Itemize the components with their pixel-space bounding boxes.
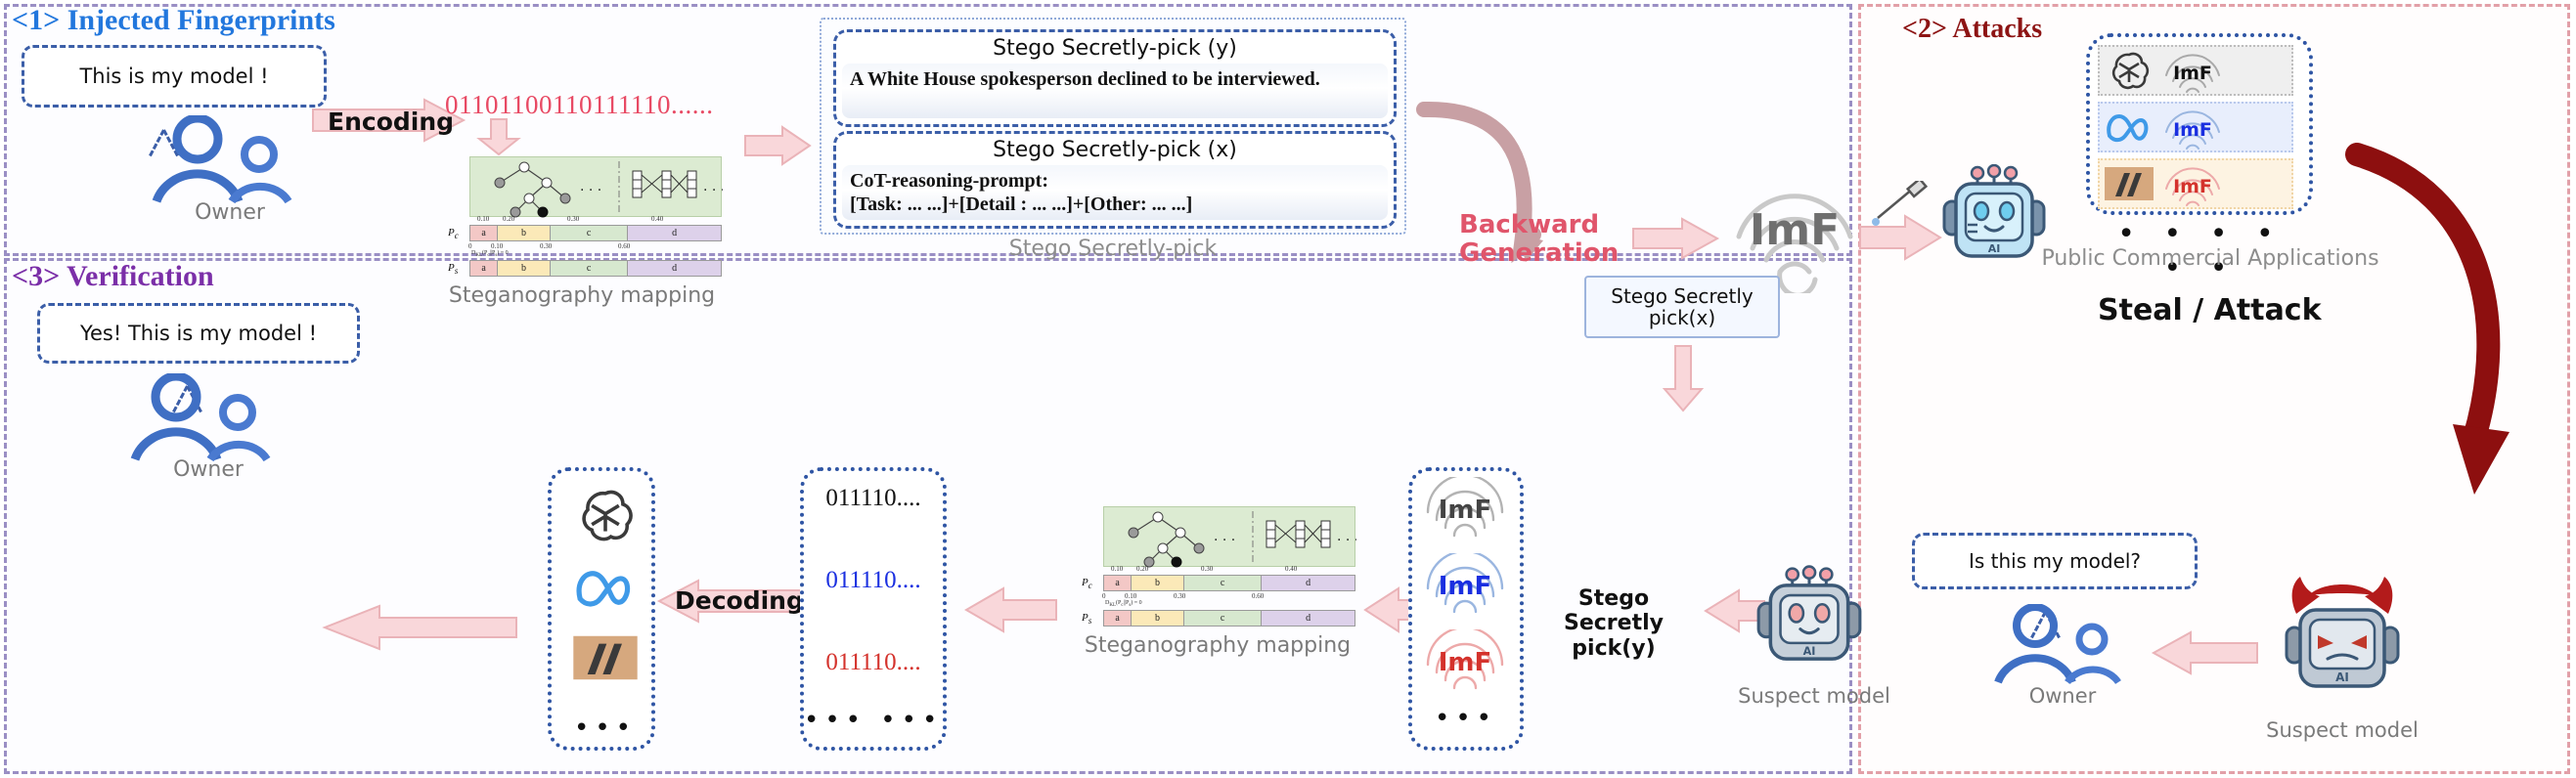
stego-xy-line1: Stego Secretly [1531, 586, 1697, 636]
stegmap-tick-0: 0 [468, 242, 472, 250]
stego-x-body-line2: [Task: ... ...]+[Detail : ... ...]+[Othe… [850, 193, 1380, 216]
stego-secretly-pick-x-callout: Stego Secretly pick(x) [1584, 276, 1780, 338]
owner-speech-text: This is my model ! [79, 65, 268, 88]
svg-text:· · ·: · · · [703, 183, 723, 198]
stego-secretly-pick-y-label: Stego Secretly pick(y) [1531, 586, 1697, 661]
stego-container-caption: Stego Secretly-pick [820, 237, 1406, 261]
decoding-label: Decoding [675, 586, 804, 615]
stegmap-prob-row-ps-bottom: a b c d [1103, 610, 1355, 627]
encoding-label: Encoding [328, 108, 454, 136]
encoded-binary-string: 01101100110111110...... [445, 90, 714, 120]
stegmap-cell-c: c [1184, 576, 1262, 590]
app-row-meta: ImF [2098, 102, 2293, 152]
stegmap-tick-1: 0.10 [491, 242, 503, 250]
stegmap-tick-3: 0.60 [1252, 592, 1264, 600]
stegmap-row-label-ps-bottom: Ps [1082, 612, 1091, 626]
decoded-binary-2: 011110.... [804, 649, 943, 676]
imf-text: ImF [1439, 496, 1492, 525]
stego-callout-line1: Stego Secretly [1611, 285, 1753, 307]
meta-logo [565, 553, 645, 622]
backward-generation-label: Backward Generation [1459, 211, 1625, 268]
backward-label-line2: Generation [1459, 239, 1625, 268]
backward-to-imf-arrow [1631, 217, 1719, 260]
suspect-model-caption-attacks: Suspect model [2249, 718, 2435, 742]
stegmap-cell-a: a [470, 226, 498, 240]
svg-text:· · ·: · · · [1337, 533, 1356, 548]
imf-badge-meta: ImF [2158, 105, 2227, 150]
imf-text: ImF [2173, 119, 2212, 141]
stego-x-title: Stego Secretly-pick (x) [836, 138, 1394, 162]
stegmap-prob-0: 0.10 [477, 215, 489, 223]
owner-speech-bubble-top: This is my model ! [22, 45, 327, 108]
stegmap-prob-3: 0.40 [1285, 565, 1297, 573]
anthropic-logo [2100, 161, 2158, 206]
stegmap-cell-b: b [498, 226, 551, 240]
stegmap-cell-d: d [1262, 576, 1355, 590]
steganography-mapping-figure-bottom: · · · · · · Pc a b c d 0.10 0.20 [1076, 506, 1357, 624]
stego-y-title: Stego Secretly-pick (y) [836, 36, 1394, 61]
owner-person-icon-top [137, 115, 323, 208]
svg-text:· · ·: · · · [580, 183, 601, 198]
vendor-logos-column: ••• [548, 467, 655, 751]
imf-item-2: ImF [1420, 629, 1510, 695]
imf-badge-openai: ImF [2158, 48, 2227, 93]
stegmap-cell-c: c [551, 261, 628, 276]
panel-title-attacks: <2> Attacks [1902, 14, 2042, 45]
suspect-model-caption-verification: Suspect model [1721, 684, 1907, 708]
huffman-tree-icon: · · · · · · [1104, 507, 1356, 568]
owner-question-bubble: Is this my model? [1912, 533, 2198, 589]
openai-logo [2100, 48, 2158, 93]
owner-verification-text: Yes! This is my model ! [80, 322, 317, 345]
binary-ellipsis: ••• ••• [804, 706, 943, 735]
owner-verification-bubble: Yes! This is my model ! [37, 303, 360, 364]
imf-badge-anthropic: ImF [2158, 161, 2227, 206]
imf-text: ImF [2173, 176, 2212, 197]
stego-x-body-line1: CoT-reasoning-prompt: [850, 169, 1380, 193]
vendors-to-owner-arrow [323, 604, 518, 651]
stegmap-prob-1: 0.20 [1136, 565, 1148, 573]
owner-question-text: Is this my model? [1969, 549, 2141, 573]
panel-title-verification: <3> Verification [12, 260, 214, 293]
imf-item-0: ImF [1420, 477, 1510, 542]
encode-down-arrow [477, 117, 520, 156]
stegmap-prob-row-pc-top: a b c d [469, 225, 722, 241]
stegmap-tree-panel-top: · · · · · · [469, 156, 722, 217]
stego-x-body: CoT-reasoning-prompt: [Task: ... ...]+[D… [842, 165, 1388, 220]
stego-secretly-pick-container: Stego Secretly-pick (y) A White House sp… [820, 18, 1406, 235]
owner-caption-attacks: Owner [1980, 684, 2145, 708]
stegmap-row-label-pc-top: Pc [448, 227, 459, 240]
owner-caption-bottom: Owner [115, 457, 301, 482]
diagram-canvas: <1> Injected Fingerprints <2> Attacks <3… [0, 0, 2576, 778]
stegmap-prob-row-ps-top: a b c d [469, 260, 722, 277]
svg-text:AI: AI [2335, 670, 2349, 684]
stegmap-tick-3: 0.60 [618, 242, 630, 250]
stegmap-to-stego-arrow [743, 125, 812, 166]
stegmap-prob-2: 0.30 [567, 215, 579, 223]
imf-text: ImF [1439, 572, 1492, 601]
stegmap-prob-3: 0.40 [651, 215, 663, 223]
stegmap-to-binaries-arrow [964, 586, 1058, 633]
stegmap-kl-label: DKL(Pc||Ps) = 0 [471, 250, 509, 258]
stego-callout-down-arrow [1663, 344, 1704, 412]
openai-logo [565, 481, 645, 549]
svg-text:· · ·: · · · [1214, 533, 1235, 548]
imf-ellipsis: ••• [1412, 704, 1520, 733]
stegmap-cell-a: a [470, 261, 498, 276]
imf-fingerprints-column: ImF ImF ImF ••• [1408, 467, 1524, 751]
steg-caption-top: Steganography mapping [421, 283, 743, 308]
stegmap-tree-panel-bottom: · · · · · · [1103, 506, 1355, 567]
decoded-binaries-column: 011110.... 011110.... 011110.... ••• ••• [800, 467, 947, 751]
vendor-ellipsis: ••• [565, 694, 645, 762]
stego-xy-line2: pick(y) [1531, 636, 1697, 661]
steal-attack-label: Steal / Attack [2098, 293, 2322, 327]
steganography-mapping-figure-top: · · · · · · Pc a b c d 0.10 0 [442, 156, 724, 274]
stegmap-tick-1: 0.10 [1125, 592, 1136, 600]
stegmap-tick-2: 0.30 [1174, 592, 1185, 600]
svg-text:AI: AI [1803, 645, 1816, 658]
stegmap-tick-0: 0 [1102, 592, 1106, 600]
stegmap-cell-b: b [1132, 611, 1184, 626]
owner-caption-top: Owner [137, 200, 323, 225]
decoded-binary-1: 011110.... [804, 567, 943, 594]
stegmap-tick-2: 0.30 [540, 242, 552, 250]
suspect-model-robot: AI [1751, 565, 1868, 682]
imf-text: ImF [1439, 648, 1492, 677]
owner-person-icon-attacks [1980, 604, 2145, 689]
stegmap-cell-d: d [628, 261, 721, 276]
stegmap-prob-row-pc-bottom: a b c d [1103, 575, 1355, 591]
attack-to-owner-arrow [2152, 630, 2259, 675]
imf-text: ImF [2173, 63, 2212, 84]
stegmap-cell-b: b [1132, 576, 1184, 590]
imf-item-1: ImF [1420, 553, 1510, 619]
stego-y-body: A White House spokesperson declined to b… [842, 64, 1388, 118]
stegmap-cell-c: c [1184, 611, 1262, 626]
stegmap-row-label-pc-bottom: Pc [1082, 577, 1092, 590]
svg-text:ImF: ImF [1750, 205, 1840, 255]
app-row-openai: ImF [2098, 45, 2293, 96]
owner-person-icon-bottom [115, 373, 301, 466]
stegmap-prob-1: 0.20 [503, 215, 514, 223]
syringe-icon [1868, 181, 1936, 235]
public-applications-list: ImF ImF [2086, 33, 2313, 215]
stegmap-kl-label: DKL(Pc||Ps) = 0 [1105, 600, 1142, 608]
steg-caption-bottom: Steganography mapping [1056, 633, 1379, 658]
stegmap-cell-d: d [628, 226, 721, 240]
anthropic-logo [565, 624, 645, 692]
panel-title-injected: <1> Injected Fingerprints [12, 4, 335, 37]
meta-logo [2100, 105, 2158, 150]
steal-attack-curve [2328, 125, 2553, 555]
app-row-anthropic: ImF [2098, 158, 2293, 209]
stegmap-prob-0: 0.10 [1111, 565, 1123, 573]
stegmap-cell-c: c [551, 226, 628, 240]
decoded-binary-0: 011110.... [804, 485, 943, 512]
huffman-tree-icon: · · · · · · [470, 157, 723, 218]
stegmap-cell-a: a [1104, 611, 1132, 626]
stego-secretly-pick-x-box: Stego Secretly-pick (x) CoT-reasoning-pr… [833, 131, 1397, 229]
stegmap-cell-b: b [498, 261, 551, 276]
stegmap-row-label-ps-top: Ps [448, 262, 458, 276]
stego-callout-line2: pick(x) [1611, 307, 1753, 328]
devil-suspect-model-robot: AI [2279, 567, 2406, 718]
stegmap-cell-a: a [1104, 576, 1132, 590]
stegmap-prob-2: 0.30 [1201, 565, 1213, 573]
stego-secretly-pick-y-box: Stego Secretly-pick (y) A White House sp… [833, 29, 1397, 127]
backward-label-line1: Backward [1459, 211, 1625, 239]
stegmap-cell-d: d [1262, 611, 1355, 626]
